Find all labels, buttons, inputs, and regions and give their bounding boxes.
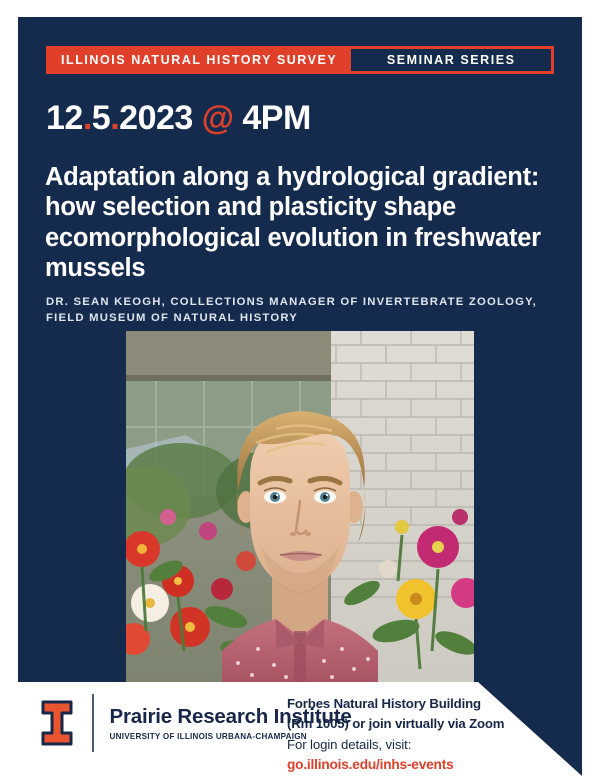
banner-series-section: SEMINAR SERIES <box>351 49 551 71</box>
venue-login-note: For login details, visit: <box>287 735 557 755</box>
date-dot-2: . <box>110 99 119 137</box>
speaker-attribution: DR. SEAN KEOGH, COLLECTIONS MANAGER OF I… <box>46 294 566 326</box>
speaker-photo-image <box>126 331 474 682</box>
date-year: 2023 <box>119 99 193 137</box>
event-date-time: 12.5.2023 @ 4PM <box>46 101 311 137</box>
header-banner: ILLINOIS NATURAL HISTORY SURVEY SEMINAR … <box>46 46 554 74</box>
date-month: 12 <box>46 99 83 137</box>
venue-info: Forbes Natural History Building (Rm 1005… <box>287 694 557 776</box>
date-day: 5 <box>92 99 110 137</box>
date-dot-1: . <box>83 99 92 137</box>
banner-org-section: ILLINOIS NATURAL HISTORY SURVEY <box>46 46 351 74</box>
speaker-photo <box>126 331 474 682</box>
logo-divider <box>92 694 94 752</box>
event-time: 4PM <box>242 99 310 137</box>
illinois-block-i-icon <box>40 699 74 747</box>
page-title: Adaptation along a hydrological gradient… <box>45 162 565 283</box>
banner-series-label: SEMINAR SERIES <box>387 54 516 67</box>
at-symbol-icon: @ <box>202 99 234 136</box>
events-url-link[interactable]: go.illinois.edu/inhs-events <box>287 755 557 776</box>
banner-org-label: ILLINOIS NATURAL HISTORY SURVEY <box>61 54 337 67</box>
seminar-poster: ILLINOIS NATURAL HISTORY SURVEY SEMINAR … <box>0 0 600 776</box>
venue-room-and-zoom: (Rm 1005) or join virtually via Zoom <box>287 714 557 734</box>
venue-building: Forbes Natural History Building <box>287 694 557 714</box>
